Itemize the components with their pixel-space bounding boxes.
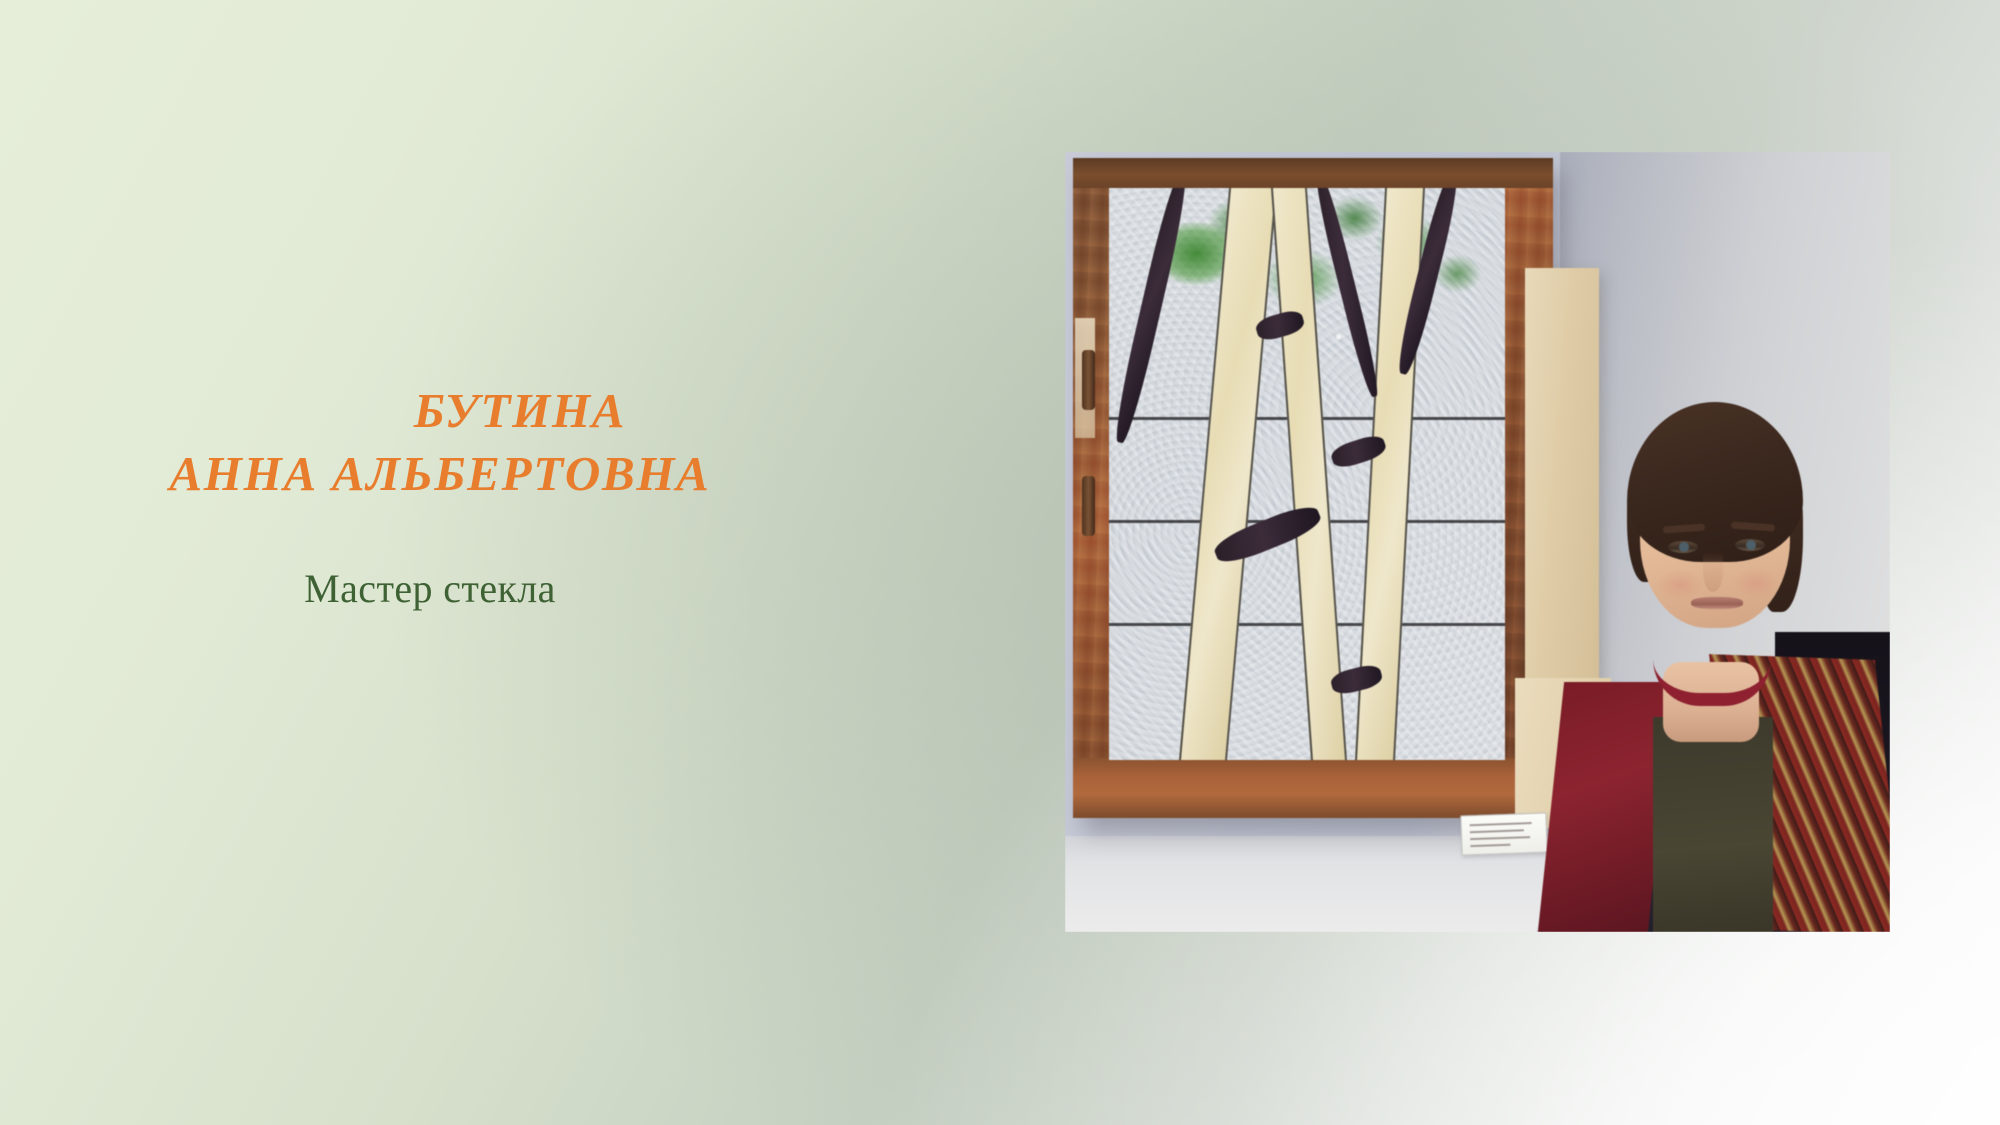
mouth (1691, 597, 1743, 609)
nose (1703, 552, 1723, 592)
artist-photo (1065, 152, 1890, 932)
artist-portrait (1535, 342, 1890, 932)
frame-bottom-rail (1073, 758, 1553, 818)
card-text-line (1470, 822, 1532, 826)
title-text-block: БУТИНА АННА АЛЬБЕРТОВНА Мастер стекла (0, 380, 880, 612)
card-text-line (1470, 829, 1524, 833)
photo-canvas (1065, 152, 1890, 932)
cheek-left (1657, 570, 1703, 600)
vest (1653, 717, 1773, 932)
frame-top-rail (1073, 158, 1553, 188)
artist-fullname: АННА АЛЬБЕРТОВНА (0, 443, 880, 506)
pupil-right (1746, 540, 1756, 550)
stained-glass-window-frame (1073, 158, 1553, 818)
artist-occupation-subtitle: Мастер стекла (0, 565, 880, 612)
cheek-right (1733, 568, 1779, 598)
slide-root: БУТИНА АННА АЛЬБЕРТОВНА Мастер стекла (0, 0, 2000, 1125)
stained-glass-panel (1109, 188, 1505, 760)
frame-hinge-upper (1082, 350, 1095, 410)
card-text-line (1470, 836, 1530, 840)
card-text-line (1470, 844, 1510, 847)
frame-hinge-lower (1082, 476, 1095, 536)
pupil-left (1679, 542, 1689, 552)
hair (1627, 402, 1803, 562)
artist-surname: БУТИНА (160, 380, 880, 443)
